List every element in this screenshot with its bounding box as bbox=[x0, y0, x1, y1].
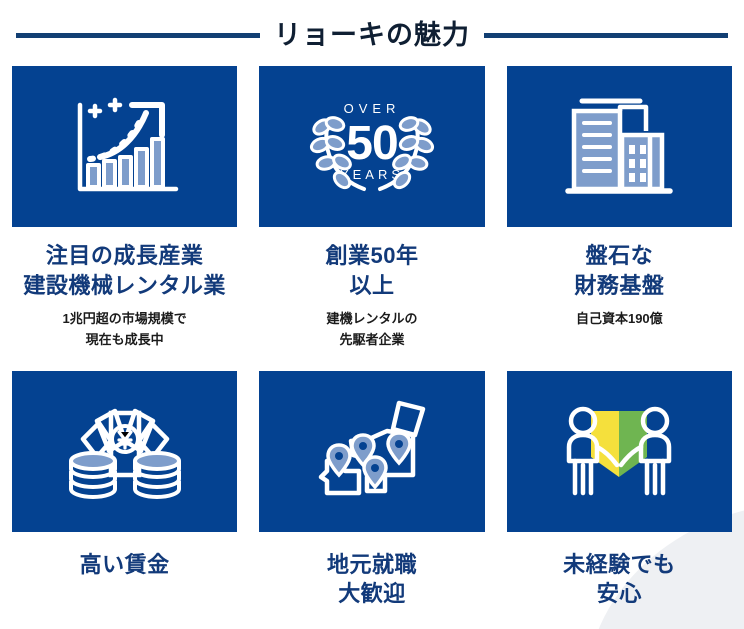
subtitle-line: 自己資本190億 bbox=[576, 309, 663, 329]
title-line: 建設機械レンタル業 bbox=[23, 271, 226, 301]
title-line: 高い賃金 bbox=[80, 550, 170, 580]
title-line: 創業50年 bbox=[326, 241, 419, 271]
title-line: 財務基盤 bbox=[574, 271, 664, 301]
fifty-number: 50 bbox=[346, 117, 397, 170]
feature-card-no-experience-ok[interactable]: 未経験でも 安心 bbox=[507, 371, 732, 609]
growth-chart-icon bbox=[66, 91, 184, 203]
feature-card-over-50-years[interactable]: OVER 50 YEARS bbox=[259, 66, 484, 350]
money-icon-tile bbox=[12, 371, 237, 532]
feature-card-title: 地元就職 大歓迎 bbox=[327, 550, 417, 609]
section-heading: リョーキの魅力 bbox=[0, 0, 744, 56]
title-line: 大歓迎 bbox=[327, 579, 417, 609]
over-label: OVER bbox=[344, 101, 401, 116]
japan-map-pins-icon bbox=[313, 395, 431, 507]
title-line: 注目の成長産業 bbox=[23, 241, 226, 271]
subtitle-line: 現在も成長中 bbox=[63, 330, 187, 350]
over-50-years-laurel-icon: OVER 50 YEARS bbox=[302, 91, 442, 203]
feature-card-subtitle: 自己資本190億 bbox=[576, 309, 663, 329]
people-beginner-icon-tile bbox=[507, 371, 732, 532]
heading-rule-right bbox=[484, 33, 728, 38]
money-cash-coins-icon bbox=[61, 395, 189, 507]
two-people-beginner-mark-icon bbox=[555, 395, 683, 507]
subtitle-line: 1兆円超の市場規模で bbox=[63, 309, 187, 329]
office-buildings-icon-tile bbox=[507, 66, 732, 227]
feature-card-title: 盤石な 財務基盤 bbox=[574, 241, 664, 300]
title-line: 地元就職 bbox=[327, 550, 417, 580]
features-grid-row-1: 注目の成長産業 建設機械レンタル業 1兆円超の市場規模で 現在も成長中 OVER… bbox=[0, 56, 744, 350]
page-title: リョーキの魅力 bbox=[274, 22, 470, 49]
growth-chart-icon-tile bbox=[12, 66, 237, 227]
office-buildings-icon bbox=[560, 91, 678, 203]
feature-card-local-employment[interactable]: 地元就職 大歓迎 bbox=[259, 371, 484, 609]
feature-card-financial-base[interactable]: 盤石な 財務基盤 自己資本190億 bbox=[507, 66, 732, 350]
title-line: 以上 bbox=[326, 271, 419, 301]
over-50-years-icon-tile: OVER 50 YEARS bbox=[259, 66, 484, 227]
feature-card-subtitle: 1兆円超の市場規模で 現在も成長中 bbox=[63, 309, 187, 349]
feature-card-title: 未経験でも 安心 bbox=[563, 550, 676, 609]
subtitle-line: 建機レンタルの bbox=[326, 309, 417, 329]
heading-rule-left bbox=[16, 33, 260, 38]
title-line: 盤石な bbox=[574, 241, 664, 271]
subtitle-line: 先駆者企業 bbox=[326, 330, 417, 350]
feature-card-subtitle: 建機レンタルの 先駆者企業 bbox=[326, 309, 417, 349]
feature-card-title: 高い賃金 bbox=[80, 550, 170, 580]
title-line: 安心 bbox=[563, 579, 676, 609]
title-line: 未経験でも bbox=[563, 550, 676, 580]
feature-card-growth-industry[interactable]: 注目の成長産業 建設機械レンタル業 1兆円超の市場規模で 現在も成長中 bbox=[12, 66, 237, 350]
feature-card-high-wages[interactable]: 高い賃金 bbox=[12, 371, 237, 609]
features-page: リョーキの魅力 bbox=[0, 0, 744, 629]
feature-card-title: 注目の成長産業 建設機械レンタル業 bbox=[23, 241, 226, 300]
japan-map-icon-tile bbox=[259, 371, 484, 532]
feature-card-title: 創業50年 以上 bbox=[326, 241, 419, 300]
features-grid-row-2: 高い賃金 bbox=[0, 350, 744, 609]
